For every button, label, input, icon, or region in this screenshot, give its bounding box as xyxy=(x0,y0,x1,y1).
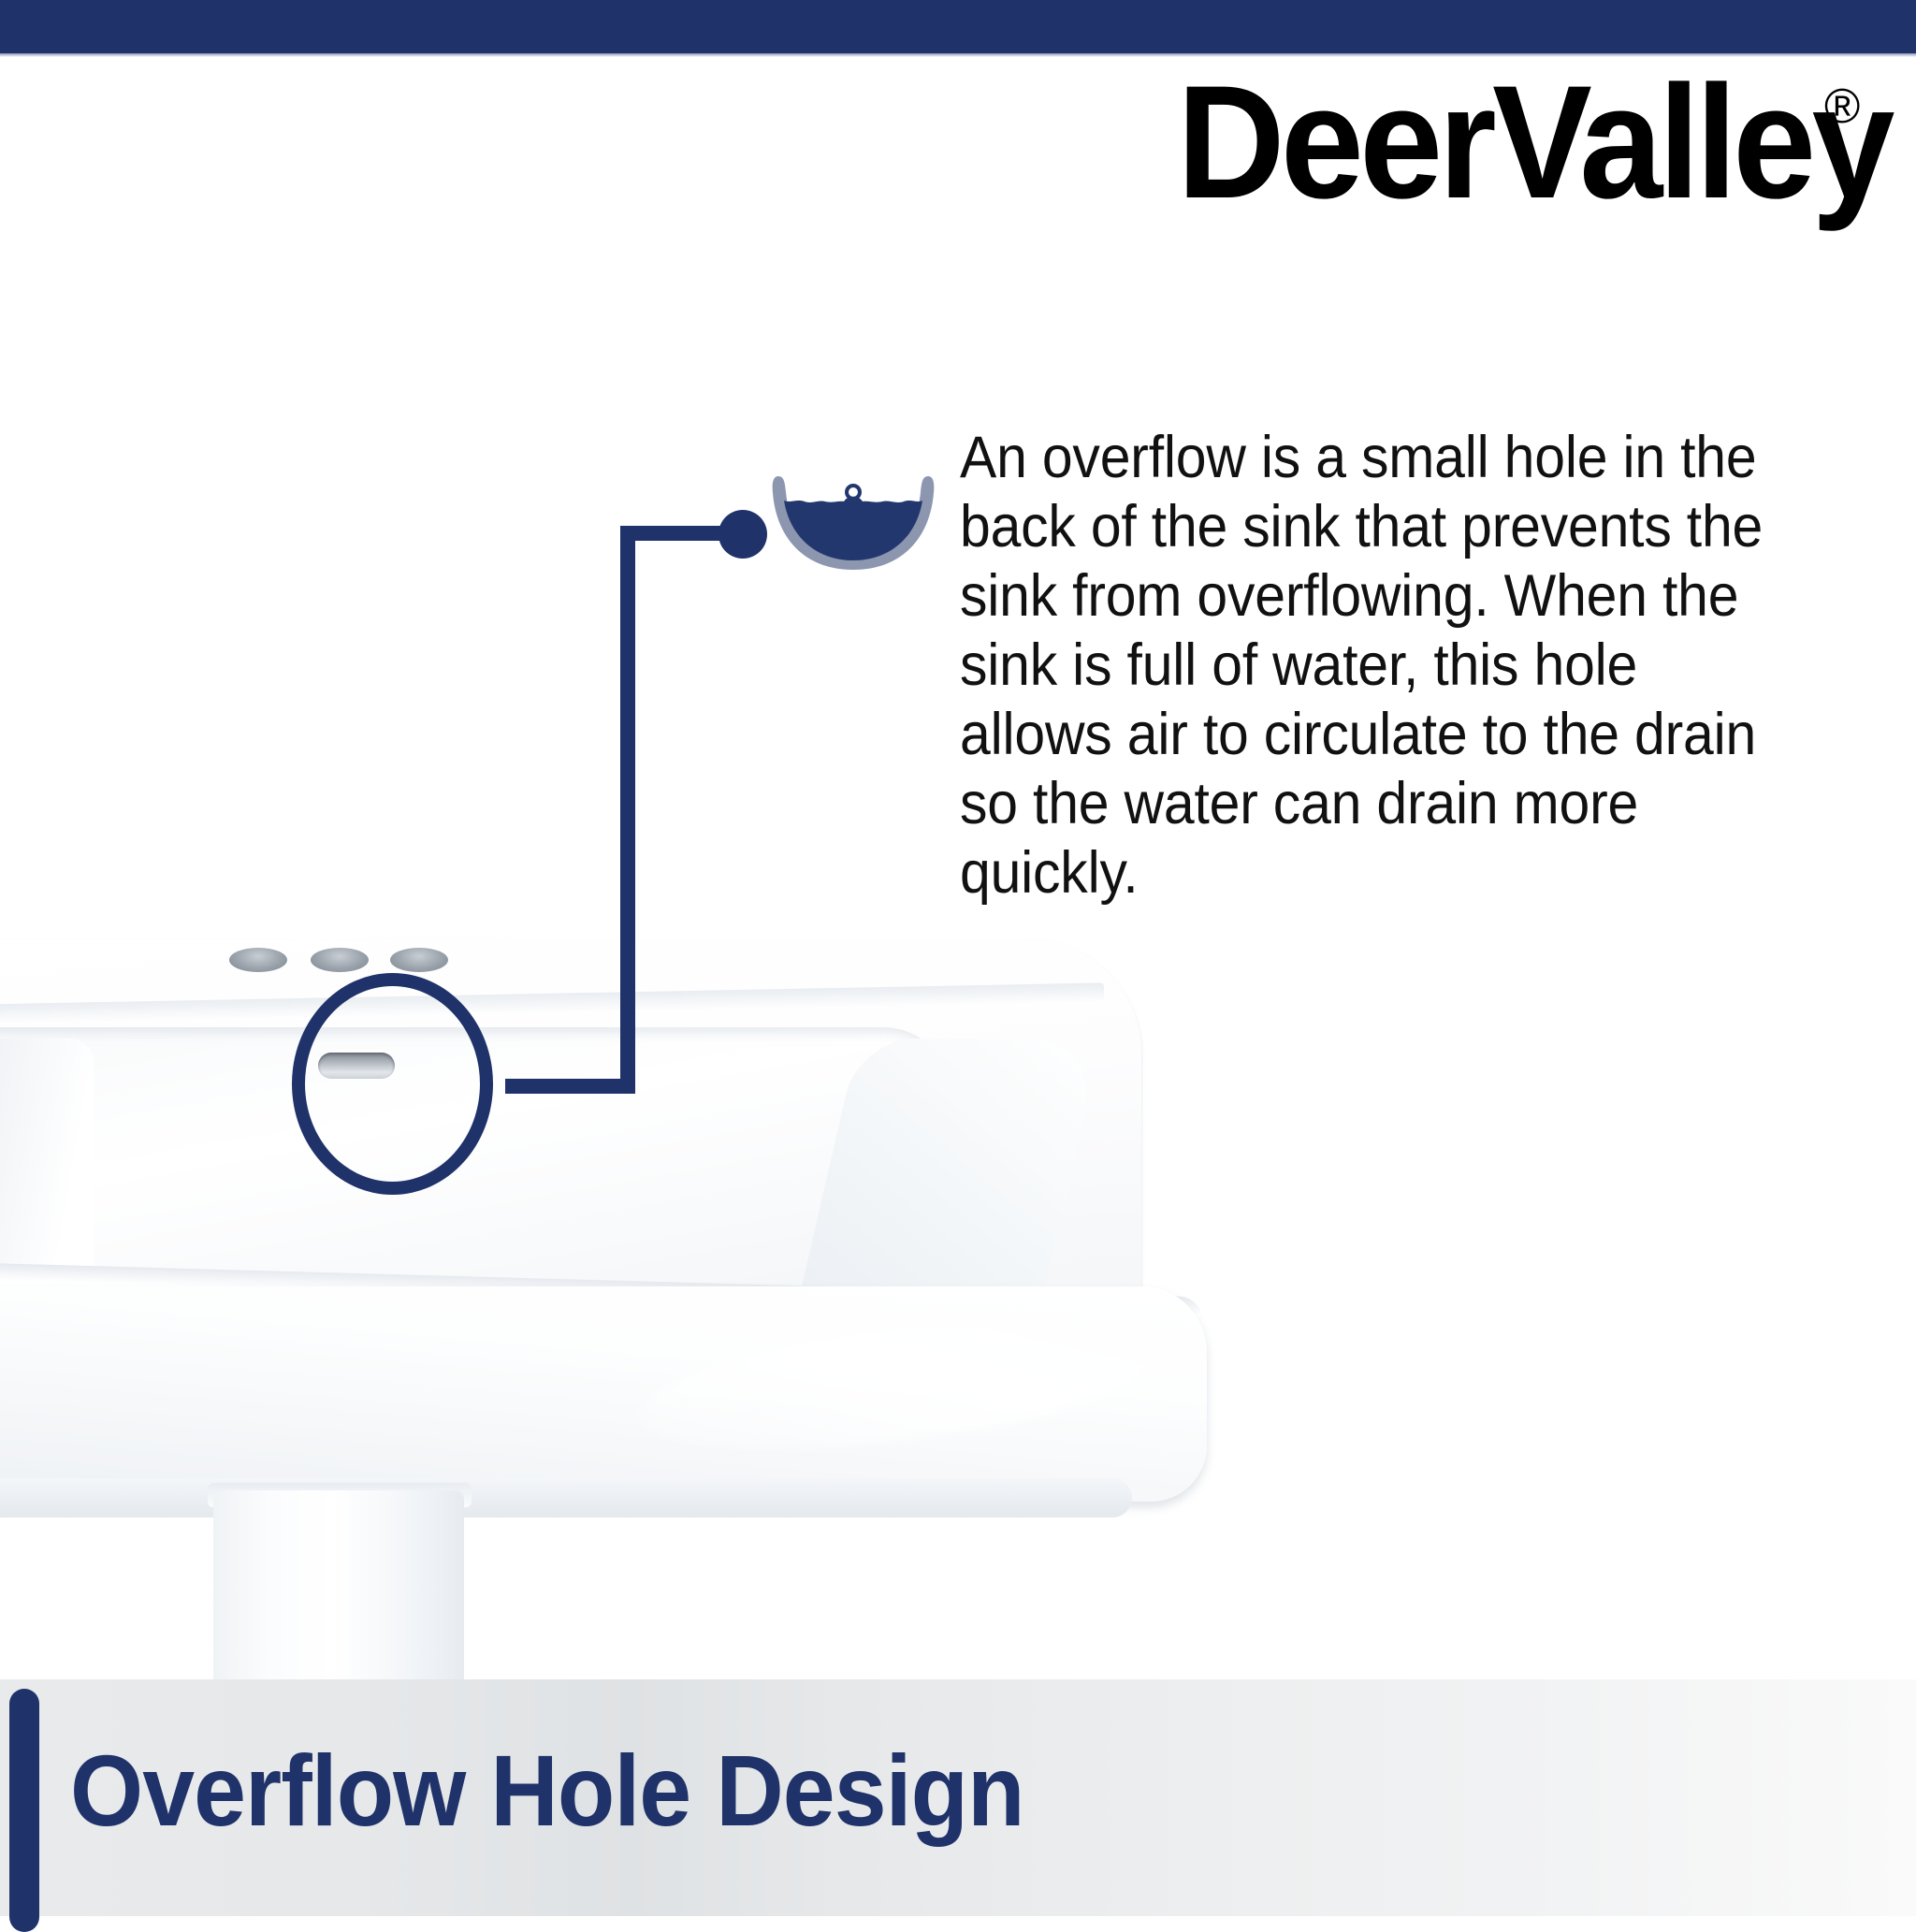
top-accent-bar xyxy=(0,0,1916,53)
brand-wordmark: DeerValley xyxy=(1177,58,1891,226)
registered-trademark-icon: ® xyxy=(1824,82,1860,131)
banner-title: Overflow Hole Design xyxy=(70,1733,1023,1849)
sink-base-lip xyxy=(0,1478,1132,1518)
leader-endpoint-dot xyxy=(718,510,767,559)
faucet-hole-right xyxy=(390,948,448,972)
leader-segment-horizontal-top xyxy=(620,526,731,541)
sink-basin-water-icon xyxy=(769,472,937,575)
callout-description-text: An overflow is a small hole in the back … xyxy=(960,423,1774,908)
banner-accent-bar xyxy=(9,1689,39,1932)
product-image-pedestal-sink xyxy=(0,889,1254,1600)
brand-logo: DeerValley ® xyxy=(1177,58,1897,226)
faucet-hole-left xyxy=(229,948,287,972)
overflow-hole xyxy=(318,1053,395,1079)
faucet-hole-center xyxy=(311,948,369,972)
